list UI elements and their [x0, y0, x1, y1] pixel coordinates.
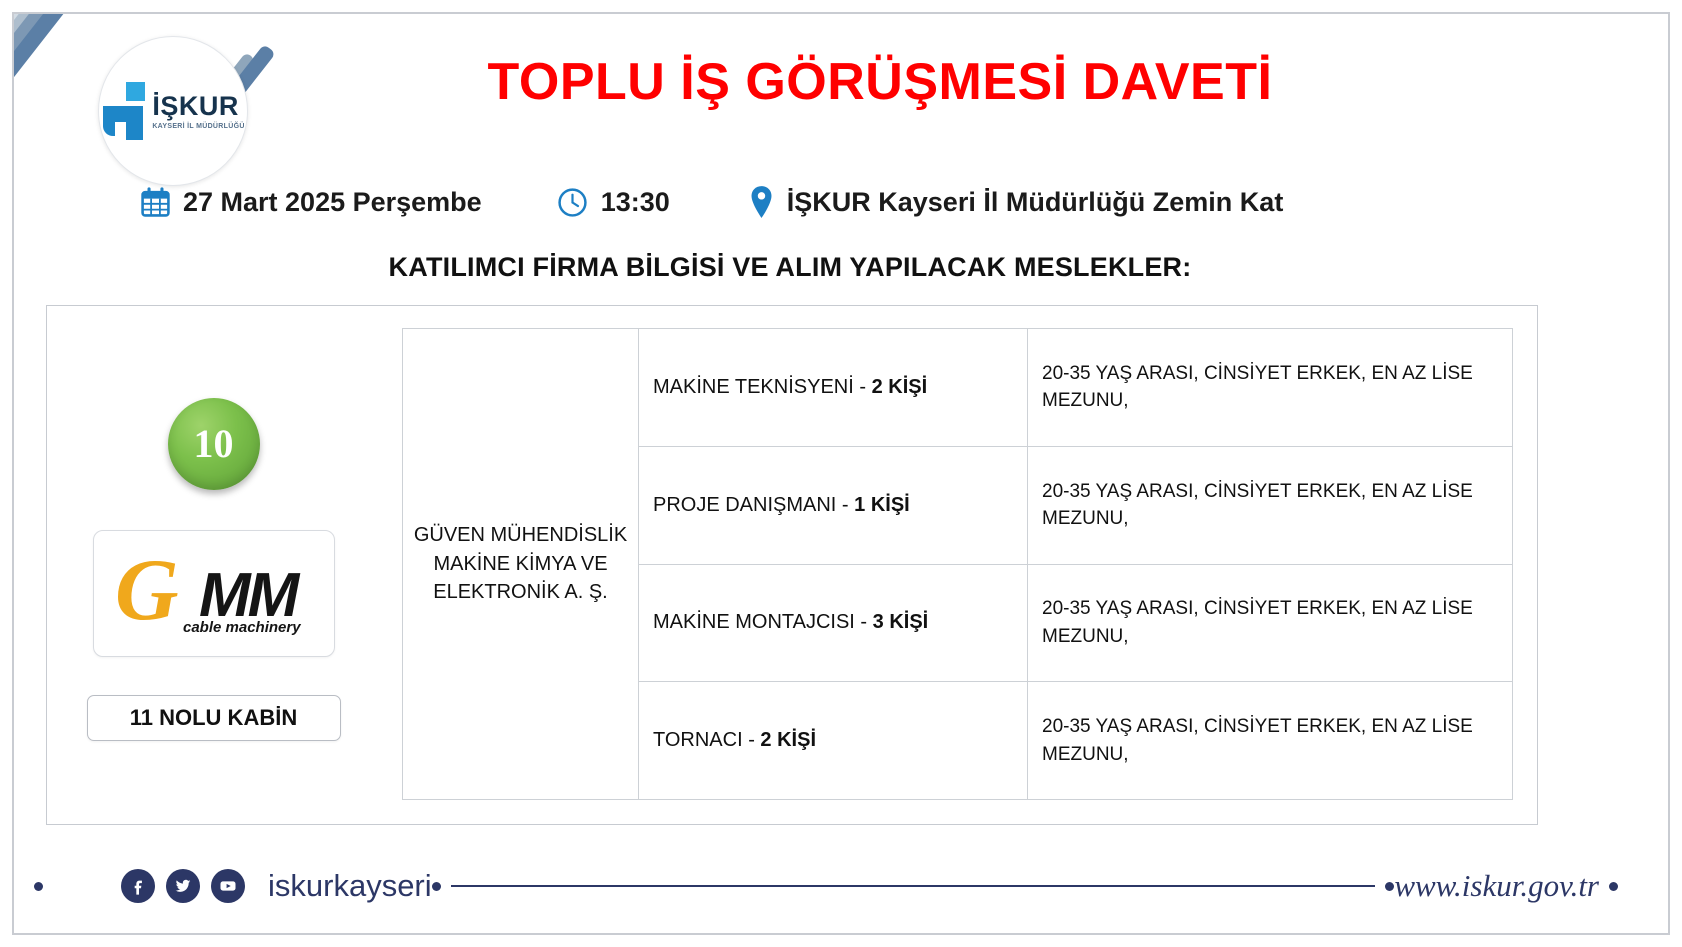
- cabin-label: 11 NOLU KABİN: [87, 695, 341, 741]
- footer: iskurkayseri www.iskur.gov.tr: [24, 855, 1658, 917]
- job-title-cell: MAKİNE TEKNİSYENİ - 2 KİŞİ: [639, 329, 1028, 447]
- table-row: GÜVEN MÜHENDİSLİK MAKİNE KİMYA VE ELEKTR…: [403, 329, 1513, 447]
- footer-dot: [1609, 882, 1618, 891]
- footer-website-group: www.iskur.gov.tr: [1394, 868, 1618, 904]
- job-title-text: MAKİNE TEKNİSYENİ -: [653, 376, 872, 398]
- job-requirements-cell: 20-35 YAŞ ARASI, CİNSİYET ERKEK, EN AZ L…: [1028, 329, 1513, 447]
- content-panel: 10 G MM cable machinery 11 NOLU KABİN GÜ…: [46, 305, 1538, 825]
- job-requirements-cell: 20-35 YAŞ ARASI, CİNSİYET ERKEK, EN AZ L…: [1028, 564, 1513, 682]
- iskur-logo-mark: [101, 82, 147, 140]
- clock-icon: [556, 186, 589, 219]
- info-date-text: 27 Mart 2025 Perşembe: [183, 187, 482, 218]
- footer-dot: [1385, 882, 1394, 891]
- gmm-logo-g: G: [115, 547, 179, 635]
- info-date: 27 Mart 2025 Perşembe: [140, 187, 482, 218]
- iskur-logo-name: İŞKUR: [152, 93, 244, 120]
- job-title-cell: TORNACI - 2 KİŞİ: [639, 682, 1028, 800]
- iskur-logo-subtitle: KAYSERİ İL MÜDÜRLÜĞÜ: [152, 123, 244, 130]
- iskur-logo: İŞKUR KAYSERİ İL MÜDÜRLÜĞÜ: [98, 36, 248, 186]
- company-left-column: 10 G MM cable machinery 11 NOLU KABİN: [47, 306, 380, 824]
- job-title-cell: PROJE DANIŞMANI - 1 KİŞİ: [639, 446, 1028, 564]
- footer-social-group: iskurkayseri: [121, 868, 432, 904]
- info-location-text: İŞKUR Kayseri İl Müdürlüğü Zemin Kat: [787, 187, 1284, 218]
- footer-divider: [451, 885, 1376, 887]
- gmm-logo-tagline: cable machinery: [183, 619, 301, 636]
- calendar-icon: [140, 187, 171, 218]
- location-pin-icon: [748, 185, 775, 219]
- twitter-icon[interactable]: [166, 869, 200, 903]
- info-time-text: 13:30: [601, 187, 670, 218]
- footer-handle: iskurkayseri: [268, 868, 432, 904]
- gmm-logo-mm: MM: [199, 565, 296, 627]
- gmm-logo: G MM cable machinery: [111, 545, 316, 641]
- company-name-cell: GÜVEN MÜHENDİSLİK MAKİNE KİMYA VE ELEKTR…: [403, 329, 639, 800]
- poster: İŞKUR KAYSERİ İL MÜDÜRLÜĞÜ TOPLU İŞ GÖRÜ…: [0, 0, 1682, 947]
- job-count-text: 2 KİŞİ: [872, 376, 928, 398]
- page-title: TOPLU İŞ GÖRÜŞMESİ DAVETİ: [380, 52, 1380, 112]
- footer-website[interactable]: www.iskur.gov.tr: [1394, 868, 1599, 904]
- job-requirements-cell: 20-35 YAŞ ARASI, CİNSİYET ERKEK, EN AZ L…: [1028, 682, 1513, 800]
- job-title-text: TORNACI -: [653, 729, 760, 751]
- facebook-icon[interactable]: [121, 869, 155, 903]
- order-number-badge: 10: [168, 398, 260, 490]
- job-title-text: PROJE DANIŞMANI -: [653, 494, 854, 516]
- job-count-text: 3 KİŞİ: [873, 611, 929, 633]
- company-logo-box: G MM cable machinery: [93, 530, 335, 657]
- job-count-text: 1 KİŞİ: [854, 494, 910, 516]
- job-requirements-cell: 20-35 YAŞ ARASI, CİNSİYET ERKEK, EN AZ L…: [1028, 446, 1513, 564]
- info-bar: 27 Mart 2025 Perşembe 13:30 İŞKUR Kayse: [140, 180, 1540, 224]
- info-time: 13:30: [556, 186, 670, 219]
- jobs-table: GÜVEN MÜHENDİSLİK MAKİNE KİMYA VE ELEKTR…: [402, 328, 1513, 800]
- section-subtitle: KATILIMCI FİRMA BİLGİSİ VE ALIM YAPILACA…: [120, 252, 1460, 283]
- youtube-icon[interactable]: [211, 869, 245, 903]
- info-location: İŞKUR Kayseri İl Müdürlüğü Zemin Kat: [748, 185, 1284, 219]
- job-count-text: 2 KİŞİ: [760, 729, 816, 751]
- footer-dot: [432, 882, 441, 891]
- job-title-text: MAKİNE MONTAJCISI -: [653, 611, 873, 633]
- footer-dot: [34, 882, 43, 891]
- job-title-cell: MAKİNE MONTAJCISI - 3 KİŞİ: [639, 564, 1028, 682]
- jobs-table-wrapper: GÜVEN MÜHENDİSLİK MAKİNE KİMYA VE ELEKTR…: [380, 306, 1537, 824]
